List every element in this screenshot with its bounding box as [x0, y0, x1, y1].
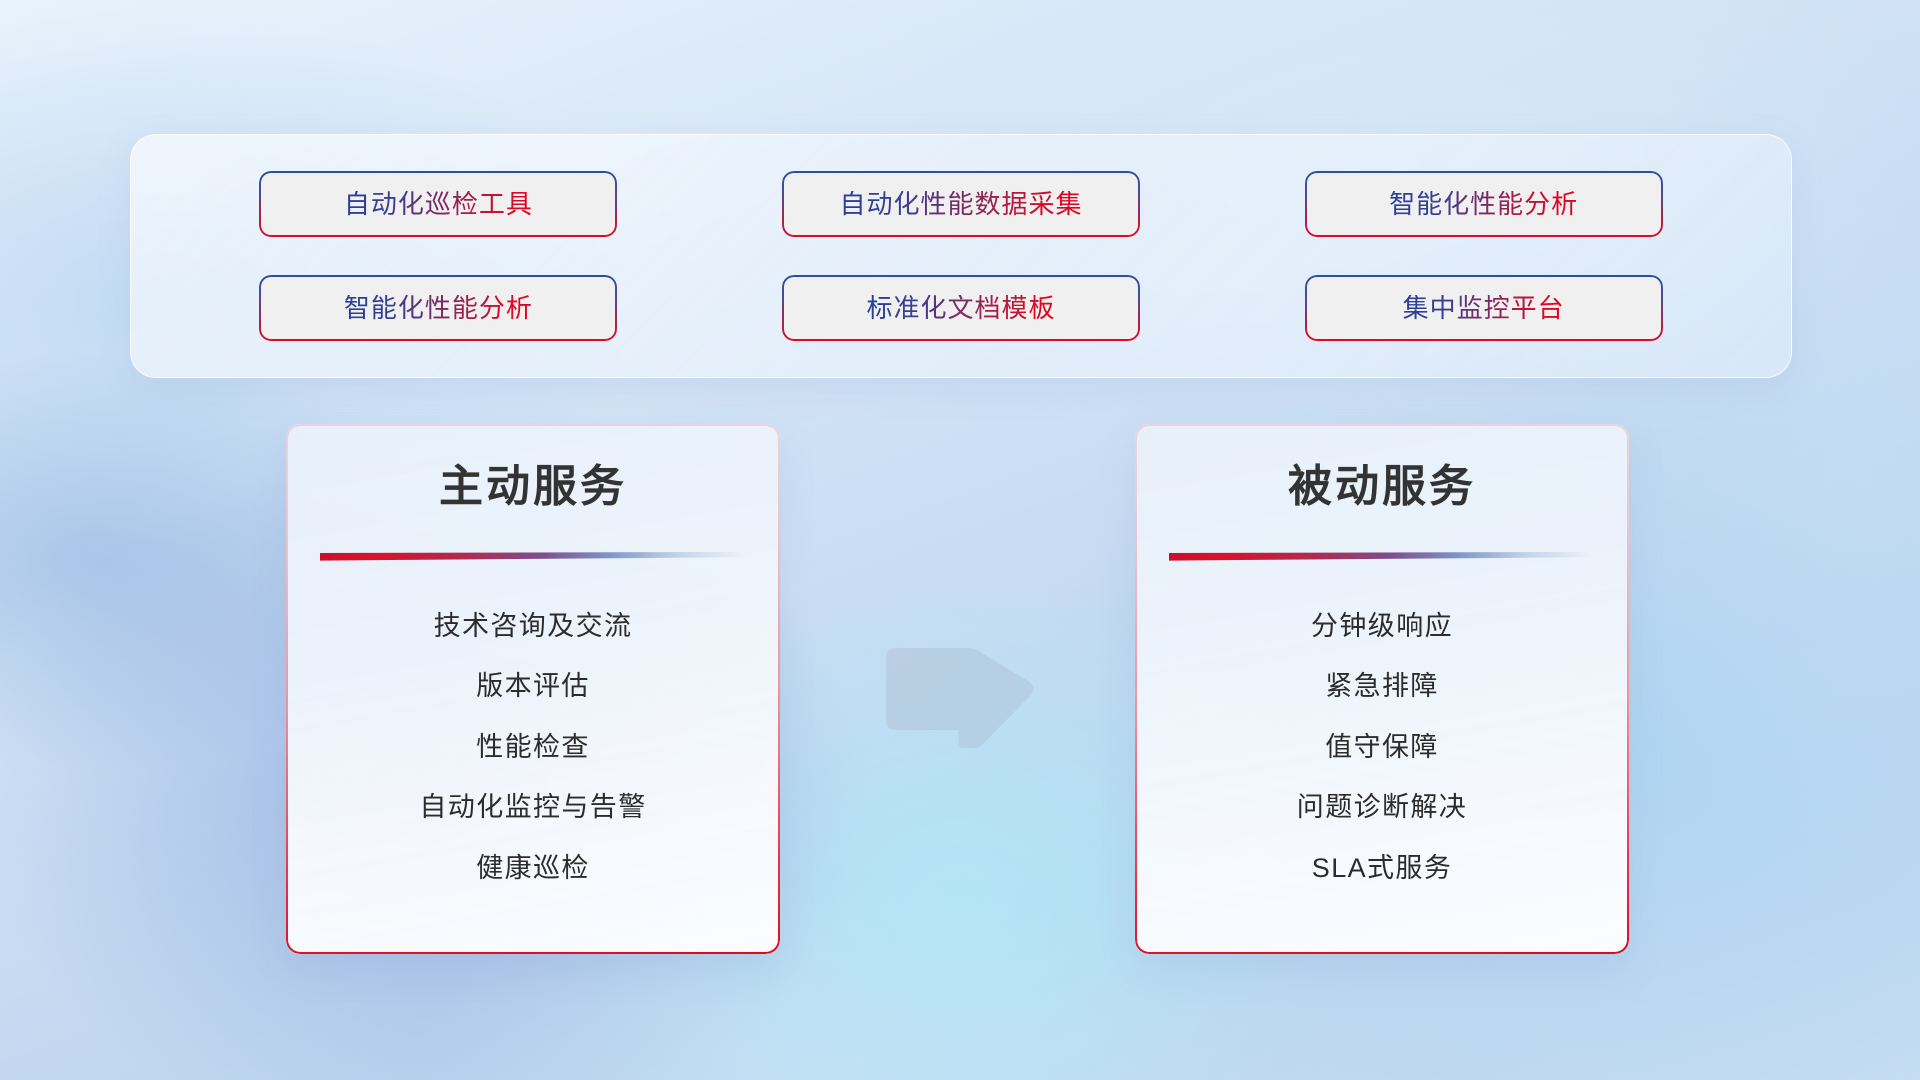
service-list-item: 性能检查: [476, 731, 590, 763]
capability-pill-label: 自动化性能数据采集: [839, 191, 1082, 217]
service-card-title: 被动服务: [1135, 462, 1629, 513]
capability-pill-label: 集中监控平台: [1403, 295, 1565, 321]
service-list-item: 分钟级响应: [1311, 610, 1453, 642]
service-list-item: 紧急排障: [1325, 670, 1439, 702]
service-list-item: 健康巡检: [476, 852, 590, 884]
capability-pill[interactable]: 标准化文档模板: [782, 275, 1140, 341]
capability-pill-label: 标准化文档模板: [866, 295, 1055, 321]
capability-pill-label: 自动化巡检工具: [344, 191, 533, 217]
card-divider-icon: [1169, 552, 1595, 561]
diagram-stage: 自动化巡检工具 自动化性能数据采集 智能化性能分析 智能化性能分析 标准化文档模…: [0, 0, 1920, 1080]
capability-pill[interactable]: 集中监控平台: [1305, 275, 1663, 341]
service-list-item: 版本评估: [476, 670, 590, 702]
arrow-right-icon: [880, 630, 1040, 748]
capability-pill[interactable]: 自动化性能数据采集: [782, 171, 1140, 237]
service-card-item-list: 分钟级响应 紧急排障 值守保障 问题诊断解决 SLA式服务: [1135, 610, 1629, 884]
capability-pill[interactable]: 智能化性能分析: [1305, 171, 1663, 237]
service-card-passive: 被动服务 分钟级响应 紧急排障 值守保障 问题诊断解决 SLA式服务: [1135, 424, 1629, 954]
service-card-title: 主动服务: [286, 462, 780, 513]
service-list-item: 问题诊断解决: [1297, 791, 1467, 823]
service-list-item: 值守保障: [1325, 731, 1439, 763]
capability-pill[interactable]: 自动化巡检工具: [259, 171, 617, 237]
service-list-item: SLA式服务: [1312, 852, 1452, 884]
service-card-active: 主动服务 技术咨询及交流 版本评估 性能检查 自动化监控与告警 健康巡检: [286, 424, 780, 954]
service-list-item: 自动化监控与告警: [419, 791, 646, 823]
capability-pill-grid: 自动化巡检工具 自动化性能数据采集 智能化性能分析 智能化性能分析 标准化文档模…: [131, 135, 1791, 377]
service-list-item: 技术咨询及交流: [434, 610, 633, 642]
capability-pill-label: 智能化性能分析: [344, 295, 533, 321]
capability-pill-label: 智能化性能分析: [1389, 191, 1578, 217]
card-divider-icon: [320, 552, 746, 561]
capability-pill-panel: 自动化巡检工具 自动化性能数据采集 智能化性能分析 智能化性能分析 标准化文档模…: [130, 134, 1792, 378]
capability-pill[interactable]: 智能化性能分析: [259, 275, 617, 341]
service-card-item-list: 技术咨询及交流 版本评估 性能检查 自动化监控与告警 健康巡检: [286, 610, 780, 884]
